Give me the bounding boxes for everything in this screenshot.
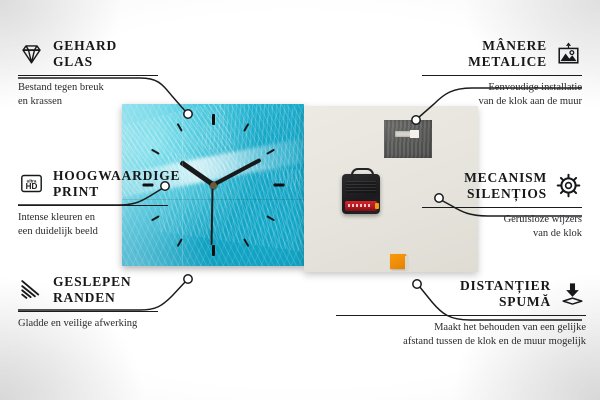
- feature-title-line1: DISTANȚIER: [460, 278, 551, 294]
- feature-titles: DISTANȚIER SPUMĂ: [460, 278, 551, 310]
- feature-rule: [18, 205, 168, 207]
- feature-rule: [18, 311, 158, 313]
- feature-mecanism-silentios[interactable]: MECANISM SILENȚIOS Geruisloze wijzers va…: [422, 170, 582, 241]
- feature-title-line2: METALICE: [468, 54, 547, 70]
- feature-distantier-spuma[interactable]: DISTANȚIER SPUMĂ Maakt het behouden van …: [336, 278, 586, 349]
- wall-mount-picture-icon: [555, 40, 582, 67]
- foam-spacer-arrow-icon: [559, 280, 586, 307]
- feature-rule: [422, 207, 582, 209]
- feature-title-line1: MÂNERE: [468, 38, 547, 54]
- feature-subtitle: Intense kleuren en een duidelijk beeld: [18, 211, 168, 239]
- battery-label: [348, 204, 370, 207]
- feature-rule: [336, 315, 586, 317]
- feature-subtitle: Maakt het behouden van een gelijke afsta…: [336, 321, 586, 349]
- feature-title-line2: GLAS: [53, 54, 117, 70]
- feature-title-line1: GEHARD: [53, 38, 117, 54]
- feature-rule: [422, 75, 582, 77]
- connector-dot-geslepen-randen: [184, 275, 192, 283]
- battery: [345, 201, 377, 211]
- mechanism-ridges: [346, 181, 376, 193]
- feature-rule: [18, 75, 158, 77]
- feature-header: GEHARD GLAS: [18, 38, 158, 70]
- feature-title-line2: RANDEN: [53, 290, 131, 306]
- feature-hoogwaardige-print[interactable]: ultra HD HOOGWAARDIGE PRINT Intense kleu…: [18, 168, 168, 239]
- feature-title-line2: SPUMĂ: [460, 294, 551, 310]
- svg-text:HD: HD: [26, 182, 38, 191]
- feature-header: DISTANȚIER SPUMĂ: [336, 278, 586, 310]
- feature-subtitle: Bestand tegen breuk en krassen: [18, 81, 158, 109]
- diamond-icon: [18, 40, 45, 67]
- feature-title-line1: GESLEPEN: [53, 274, 131, 290]
- infographic-stage: GEHARD GLAS Bestand tegen breuk en krass…: [0, 0, 600, 400]
- feather-pattern: [197, 104, 304, 192]
- feature-titles: GESLEPEN RANDEN: [53, 274, 131, 306]
- feature-subtitle: Eenvoudige installatie van de klok aan d…: [422, 81, 582, 109]
- feature-header: ultra HD HOOGWAARDIGE PRINT: [18, 168, 168, 200]
- feature-header: MÂNERE METALICE: [422, 38, 582, 70]
- feature-geslepen-randen[interactable]: GESLEPEN RANDEN Gladde en veilige afwerk…: [18, 274, 158, 331]
- feature-titles: HOOGWAARDIGE PRINT: [53, 168, 180, 200]
- clock-center-hub: [210, 182, 217, 189]
- feature-title-line2: PRINT: [53, 184, 180, 200]
- feather-pattern: [157, 152, 304, 252]
- feature-header: GESLEPEN RANDEN: [18, 274, 158, 306]
- feature-titles: MÂNERE METALICE: [468, 38, 547, 70]
- beveled-edges-icon: [18, 276, 45, 303]
- foam-spacer: [390, 254, 406, 269]
- feature-title-line2: SILENȚIOS: [464, 186, 547, 202]
- feature-manere-metalice[interactable]: MÂNERE METALICE Eenvoudige installatie v…: [422, 38, 582, 109]
- feature-titles: MECANISM SILENȚIOS: [464, 170, 547, 202]
- feature-subtitle: Gladde en veilige afwerking: [18, 317, 158, 331]
- clock-second-hand: [211, 185, 214, 245]
- metal-hanger: [384, 120, 432, 158]
- feature-subtitle: Geruisloze wijzers van de klok: [422, 213, 582, 241]
- ultra-hd-icon: ultra HD: [18, 170, 45, 197]
- clock-minute-hand: [212, 158, 262, 187]
- mechanism-loop: [351, 168, 374, 180]
- gear-icon: [555, 172, 582, 199]
- feature-titles: GEHARD GLAS: [53, 38, 117, 70]
- clock-hour-hand: [179, 160, 215, 187]
- feature-header: MECANISM SILENȚIOS: [422, 170, 582, 202]
- clock-mechanism: [342, 174, 380, 214]
- feature-title-line1: HOOGWAARDIGE: [53, 168, 180, 184]
- feature-title-line1: MECANISM: [464, 170, 547, 186]
- hanger-slot: [395, 131, 418, 137]
- feature-gehard-glas[interactable]: GEHARD GLAS Bestand tegen breuk en krass…: [18, 38, 158, 109]
